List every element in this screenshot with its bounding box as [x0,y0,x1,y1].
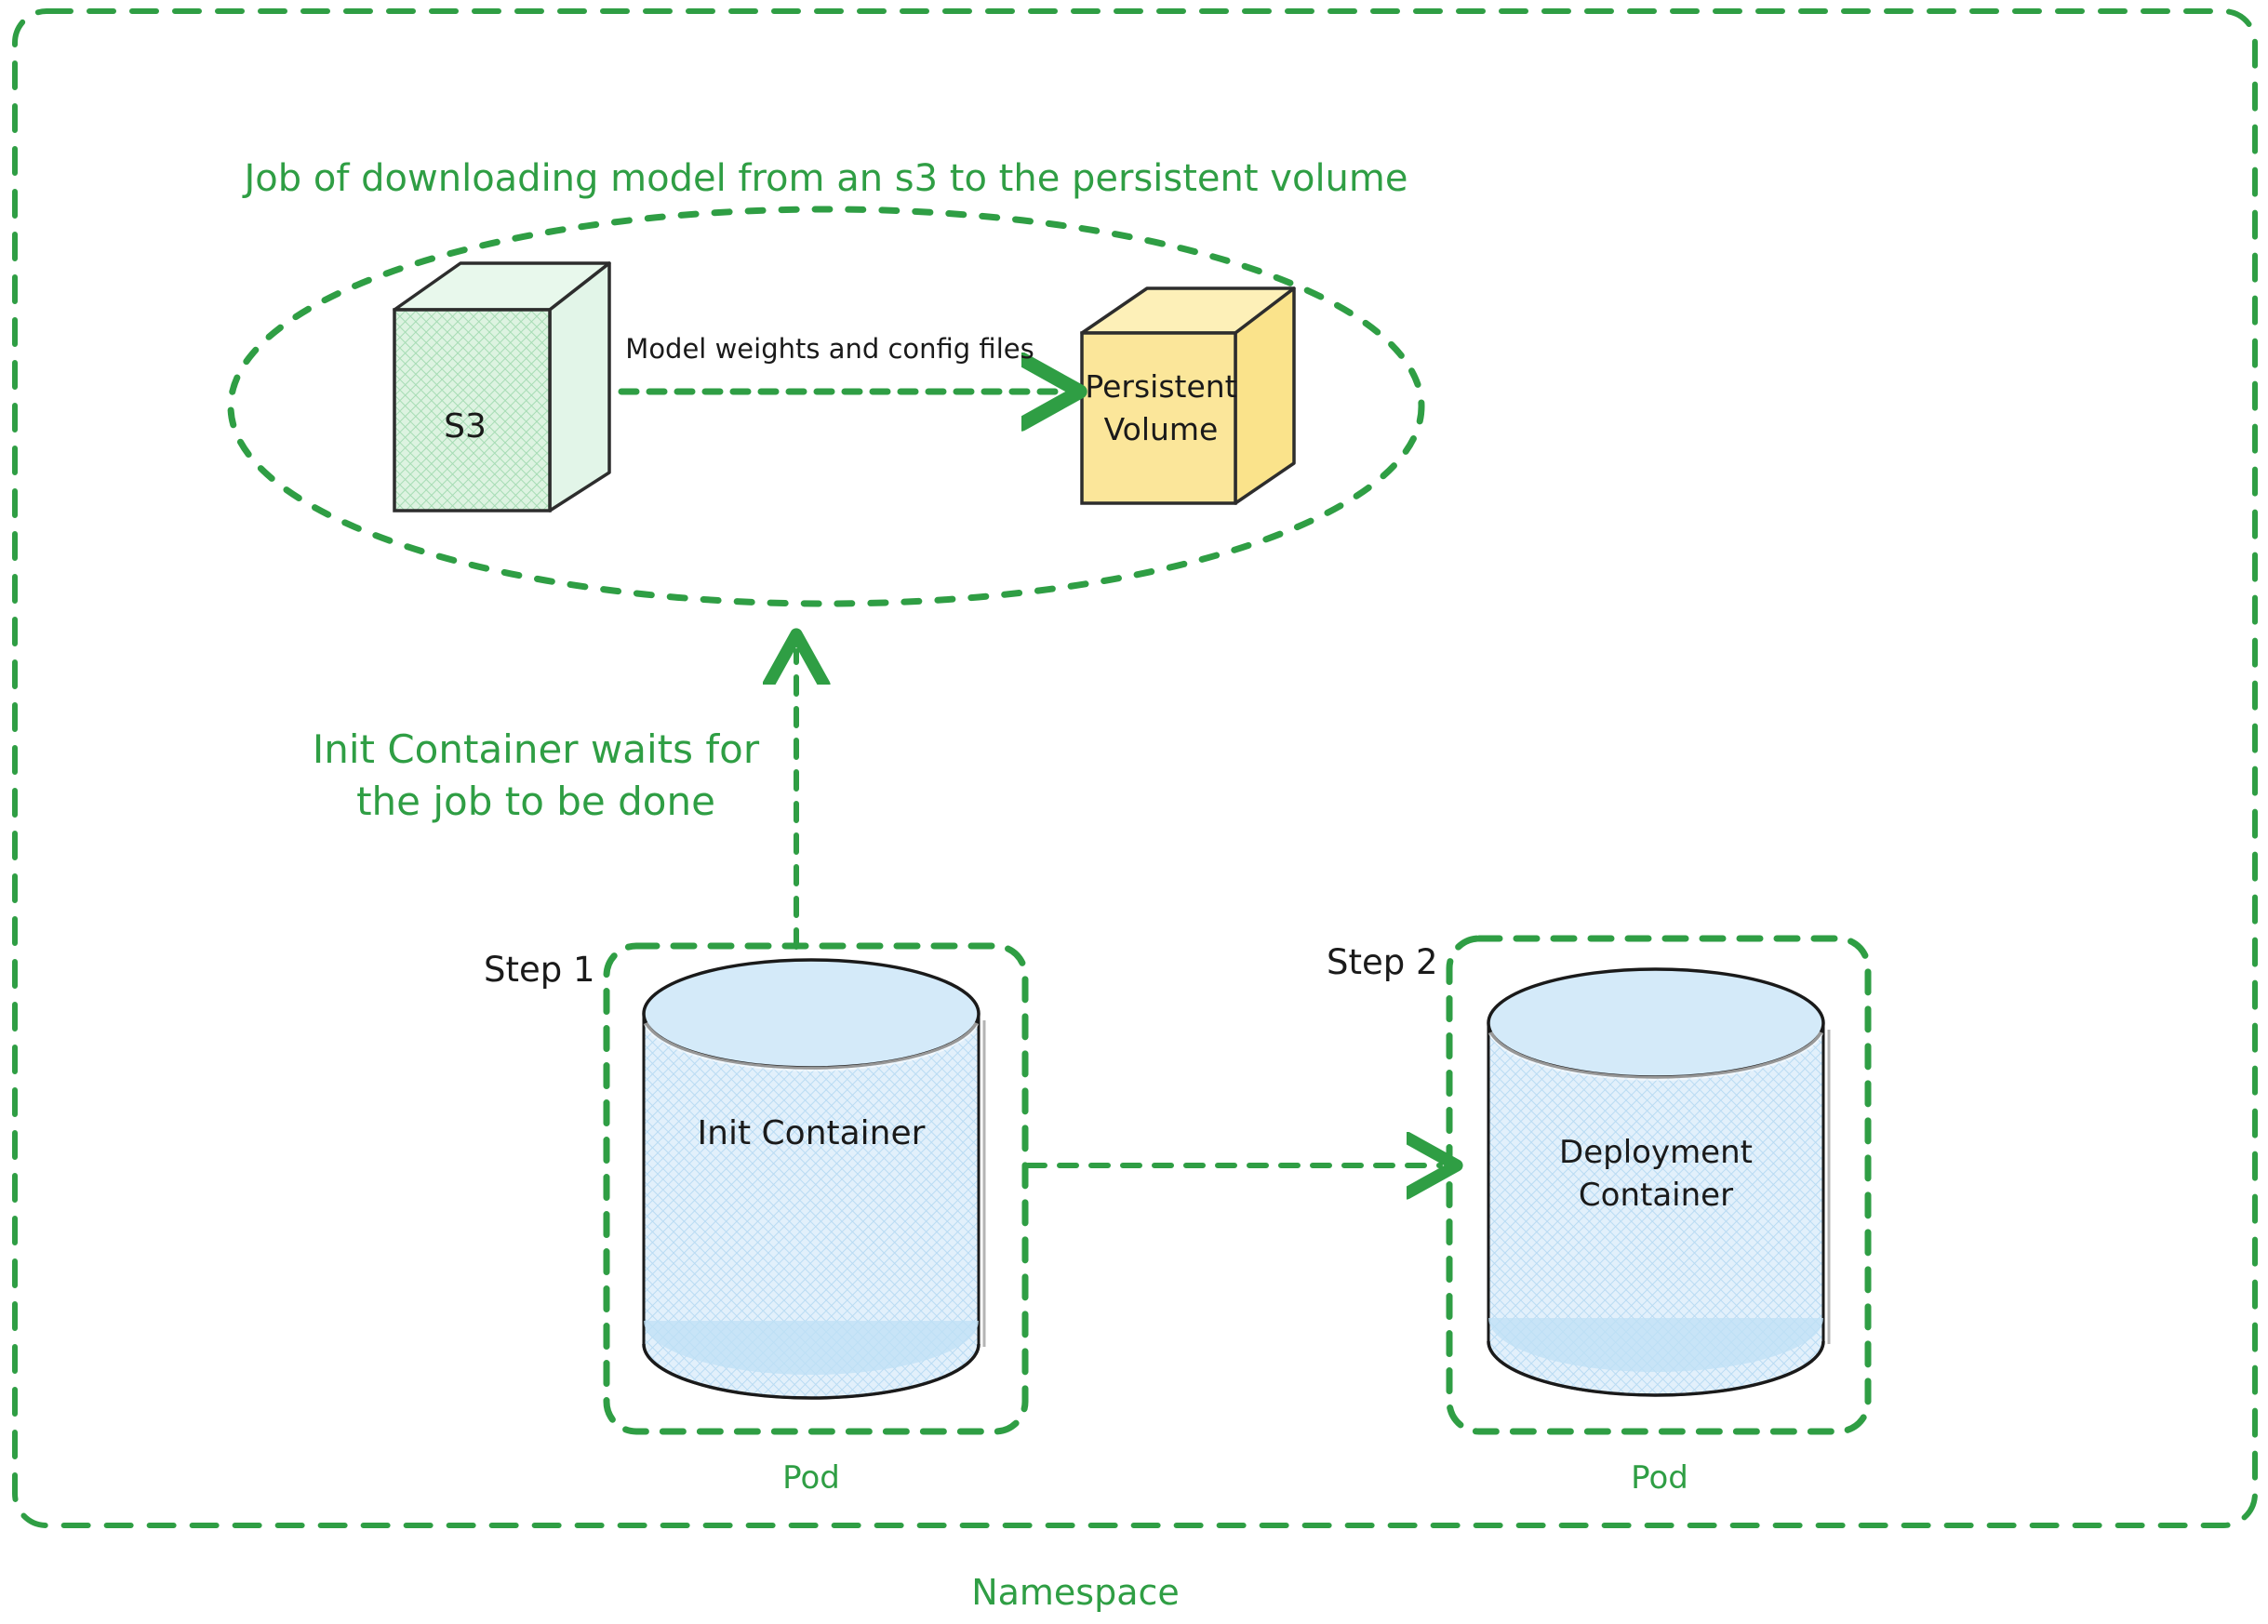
deployment-container-label-line2: Container [1579,1177,1733,1214]
edge-s3-to-pv-label: Model weights and config files [625,333,1034,365]
step-1-label: Step 1 [484,950,595,990]
step-2-label: Step 2 [1327,942,1438,982]
s3-cube: S3 [394,263,609,511]
edge-s3-to-persistent-volume: Model weights and config files [621,333,1061,392]
init-container-cylinder: Init Container [644,960,984,1398]
edge-init-to-job: Init Container waits for the job to be d… [313,651,796,947]
persistent-volume-label-line2: Volume [1104,411,1219,447]
diagram-canvas: S3 Persistent Volume Model weights and c… [0,0,2268,1624]
persistent-volume-cube: Persistent Volume [1082,288,1294,503]
namespace-label: Namespace [971,1572,1180,1613]
pod-1-label: Pod [782,1459,840,1497]
edge-init-to-job-label-line1: Init Container waits for [313,726,760,772]
pod-2-label: Pod [1631,1459,1688,1497]
s3-label: S3 [444,407,487,446]
persistent-volume-label-line1: Persistent [1085,368,1236,405]
deployment-container-label-line1: Deployment [1559,1134,1753,1171]
deployment-container-cylinder: Deployment Container [1488,969,1829,1395]
job-caption: Job of downloading model from an s3 to t… [242,157,1408,200]
init-container-label: Init Container [698,1114,926,1152]
edge-init-to-job-label-line2: the job to be done [356,779,715,824]
diagram-svg: S3 Persistent Volume Model weights and c… [0,0,2268,1624]
